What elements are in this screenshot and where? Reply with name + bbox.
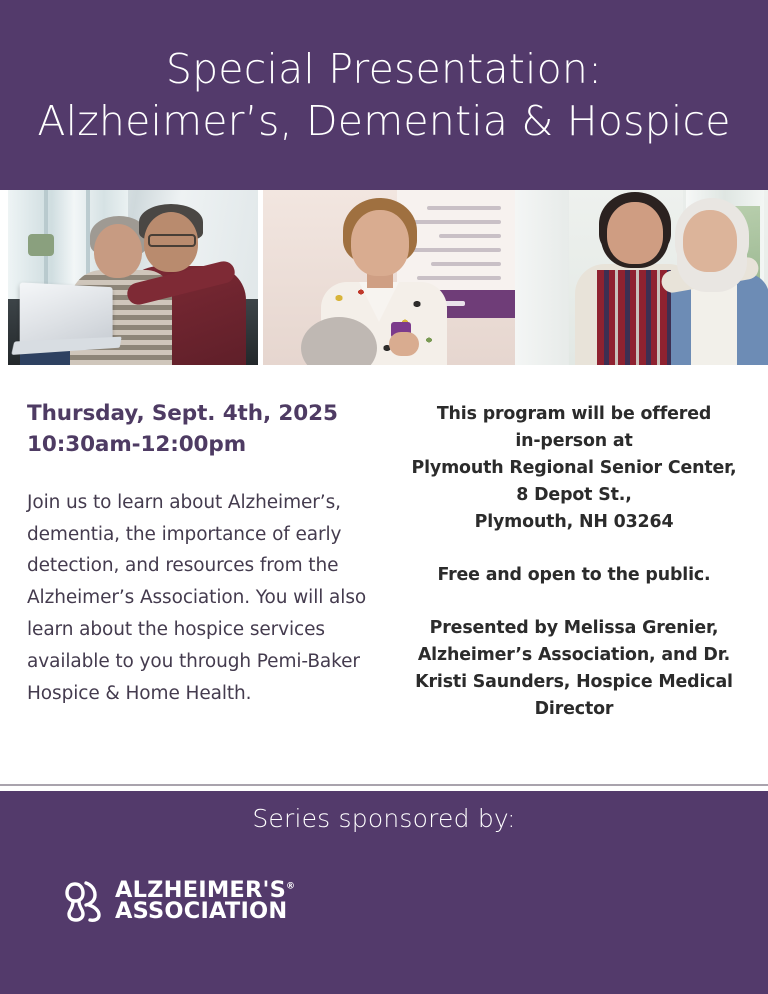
photo-band xyxy=(0,190,768,365)
event-time: 10:30am-12:00pm xyxy=(27,429,382,460)
presenters-line-1: Presented by Melissa Grenier, xyxy=(404,615,744,642)
alzheimers-association-logo: ALZHEIMER'S® ASSOCIATION xyxy=(62,879,295,923)
photo-two-women-embracing xyxy=(515,190,768,365)
presenters-line-3: Kristi Saunders, Hospice Medical xyxy=(404,669,744,696)
presenters-line-4: Director xyxy=(404,696,744,723)
sponsor-label: Series sponsored by: xyxy=(0,804,768,833)
event-datetime: Thursday, Sept. 4th, 2025 10:30am-12:00p… xyxy=(27,398,382,461)
page-title-line-1: Special Presentation: xyxy=(166,44,602,94)
event-description: Join us to learn about Alzheimer’s, deme… xyxy=(27,487,382,710)
spacer-1 xyxy=(404,536,744,562)
page-title-line-2: Alzheimer’s, Dementia & Hospice xyxy=(37,96,730,146)
registered-trademark-icon: ® xyxy=(286,881,295,891)
location-venue: Plymouth Regional Senior Center, xyxy=(404,455,744,482)
event-date: Thursday, Sept. 4th, 2025 xyxy=(27,398,382,429)
left-column: Thursday, Sept. 4th, 2025 10:30am-12:00p… xyxy=(27,398,382,709)
footer-banner: Series sponsored by: ALZHEIMER'S® ASSOCI… xyxy=(0,791,768,994)
alzheimers-mark-icon xyxy=(62,879,106,923)
location-street: 8 Depot St., xyxy=(404,482,744,509)
header-banner: Special Presentation: Alzheimer’s, Demen… xyxy=(0,0,768,190)
alzheimers-logo-line-2: ASSOCIATION xyxy=(115,901,295,922)
photo-presenter-speaking xyxy=(263,190,515,365)
content-section: Thursday, Sept. 4th, 2025 10:30am-12:00p… xyxy=(0,365,768,786)
presenters-line-2: Alzheimer’s Association, and Dr. xyxy=(404,642,744,669)
location-line-2: in-person at xyxy=(404,428,744,455)
alzheimers-logo-line-1: ALZHEIMER'S® xyxy=(115,880,295,901)
location-line-1: This program will be offered xyxy=(404,401,744,428)
spacer-2 xyxy=(404,589,744,615)
right-column: This program will be offered in-person a… xyxy=(404,401,744,723)
location-city-state-zip: Plymouth, NH 03264 xyxy=(404,509,744,536)
section-divider xyxy=(0,784,768,786)
presenters-block: Presented by Melissa Grenier, Alzheimer’… xyxy=(404,615,744,723)
location-block: This program will be offered in-person a… xyxy=(404,401,744,536)
flyer-page: Special Presentation: Alzheimer’s, Demen… xyxy=(0,0,768,994)
cost-note: Free and open to the public. xyxy=(404,562,744,589)
photo-older-couple-laptop xyxy=(8,190,258,365)
